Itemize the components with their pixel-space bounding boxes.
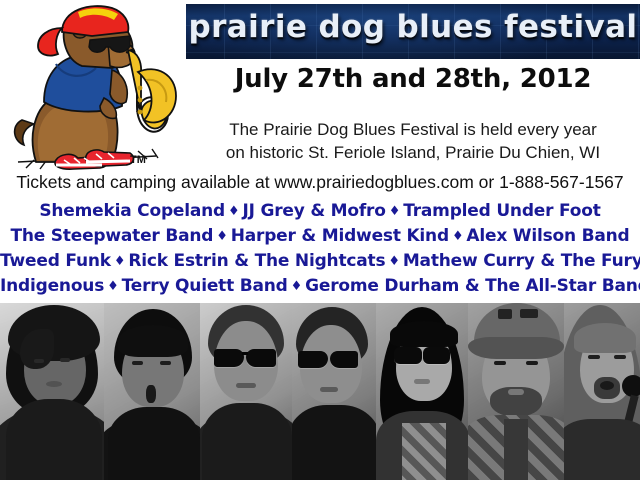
lineup-row: Indigenous♦Terry Quiett Band♦Gerome Durh… (0, 274, 640, 299)
musician-photo (104, 303, 200, 480)
lineup-separator-icon: ♦ (225, 204, 242, 219)
lineup-separator-icon: ♦ (288, 279, 305, 294)
musician-photo (376, 303, 468, 480)
tickets-info: Tickets and camping available at www.pra… (0, 172, 640, 193)
prairie-dog-saxophone-mascot-icon: TM (4, 2, 186, 178)
musician-photo (564, 303, 640, 480)
band-name: Harper & Midwest Kind (231, 226, 449, 246)
band-name: Trampled Under Foot (403, 201, 600, 221)
lineup-separator-icon: ♦ (385, 254, 402, 269)
band-name: The Steepwater Band (10, 226, 213, 246)
musician-photo (0, 303, 104, 480)
musician-photo (200, 303, 292, 480)
festival-description: The Prairie Dog Blues Festival is held e… (186, 118, 640, 164)
description-line-2: on historic St. Feriole Island, Prairie … (186, 141, 640, 164)
festival-poster: TM prairie dog blues festival July 27th … (0, 0, 640, 480)
band-name: Gerome Durham & The All-Star Band (305, 276, 640, 296)
lineup-separator-icon: ♦ (104, 279, 121, 294)
lineup-separator-icon: ♦ (111, 254, 128, 269)
band-name: Alex Wilson Band (466, 226, 629, 246)
band-name: JJ Grey & Mofro (242, 201, 385, 221)
band-name: Tweed Funk (0, 251, 111, 271)
band-name: Terry Quiett Band (122, 276, 288, 296)
band-name: Mathew Curry & The Fury (403, 251, 640, 271)
band-name: Rick Estrin & The Nightcats (128, 251, 385, 271)
band-name: Indigenous (0, 276, 104, 296)
lineup-separator-icon: ♦ (386, 204, 403, 219)
description-line-1: The Prairie Dog Blues Festival is held e… (186, 118, 640, 141)
musician-photo (292, 303, 376, 480)
lineup-row: Tweed Funk♦Rick Estrin & The Nightcats♦M… (0, 249, 640, 274)
lineup-separator-icon: ♦ (449, 229, 466, 244)
festival-banner: prairie dog blues festival (186, 4, 640, 59)
trademark-mark: TM (130, 154, 146, 166)
banner-title: prairie dog blues festival (186, 9, 640, 45)
band-lineup: Shemekia Copeland♦JJ Grey & Mofro♦Trampl… (0, 199, 640, 299)
festival-dates: July 27th and 28th, 2012 (186, 64, 640, 94)
band-name: Shemekia Copeland (39, 201, 225, 221)
lineup-separator-icon: ♦ (213, 229, 230, 244)
lineup-row: Shemekia Copeland♦JJ Grey & Mofro♦Trampl… (0, 199, 640, 224)
musician-photo (468, 303, 564, 480)
lineup-row: The Steepwater Band♦Harper & Midwest Kin… (0, 224, 640, 249)
musician-photo-strip (0, 303, 640, 480)
